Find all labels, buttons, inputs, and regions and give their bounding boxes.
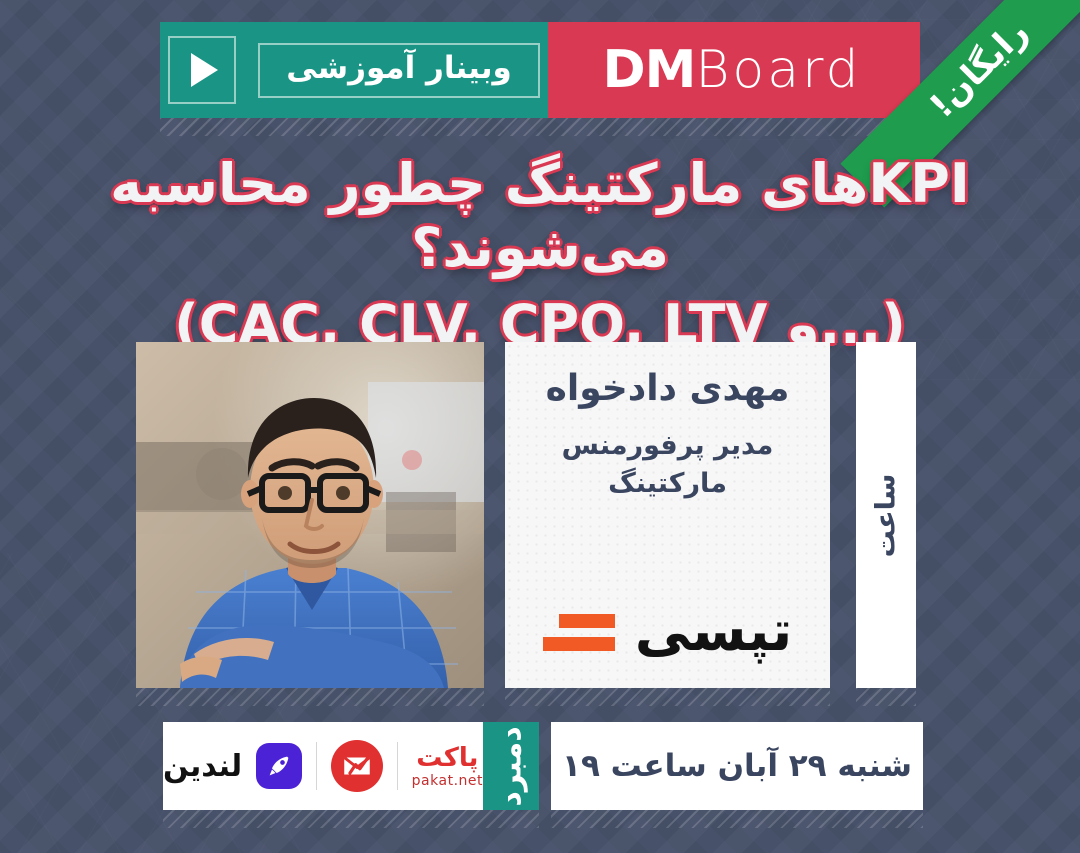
sponsors-bar: پاکت pakat.net لندین xyxy=(163,722,483,810)
play-triangle-icon xyxy=(191,53,218,87)
tapsi-wordmark: تپسی xyxy=(635,604,793,660)
hour-strip-hatch-shadow xyxy=(856,688,916,706)
speaker-card-hatch-shadow xyxy=(505,688,830,706)
hour-strip-label: ساعت xyxy=(871,473,902,557)
free-ribbon-label: رایگان! xyxy=(922,12,1036,126)
dmboard-logo-text: DMBoard xyxy=(602,40,865,100)
title-line-1: KPIهای مارکتینگ چطور محاسبه می‌شوند؟ xyxy=(0,152,1080,279)
logo-board: Board xyxy=(695,40,861,100)
dmboard-logo-box[interactable]: DMBoard xyxy=(548,22,920,118)
event-date-label: شنبه ۲۹ آبان ساعت ۱۹ xyxy=(562,748,912,784)
page-title: KPIهای مارکتینگ چطور محاسبه می‌شوند؟ (CA… xyxy=(0,152,1080,357)
speaker-role: مدیر پرفورمنس مارکتینگ xyxy=(529,427,806,504)
speaker-photo xyxy=(136,342,484,688)
sponsor-divider-2 xyxy=(316,742,317,790)
sponsors-hatch-shadow xyxy=(163,810,539,828)
date-hatch-shadow xyxy=(551,810,923,828)
sponsor-pakat-name-fa: پاکت xyxy=(416,745,478,771)
photo-hatch-shadow xyxy=(136,688,484,706)
header-hatch-shadow xyxy=(160,118,920,136)
sponsor-pakat-name-en: pakat.net xyxy=(412,774,483,788)
event-date-box: شنبه ۲۹ آبان ساعت ۱۹ xyxy=(551,722,923,810)
hour-strip: ساعت xyxy=(856,342,916,688)
webinar-badge-label: وبینار آموزشی xyxy=(258,43,539,98)
tapsi-equals-mark-icon xyxy=(543,614,615,651)
logo-dm: DM xyxy=(602,40,695,100)
play-icon[interactable] xyxy=(168,36,236,104)
rocket-icon xyxy=(256,743,302,789)
speaker-card: مهدی دادخواه مدیر پرفورمنس مارکتینگ تپسی xyxy=(505,342,830,688)
tapsi-bar-top xyxy=(559,614,615,628)
webinar-poster: DMBoard وبینار آموزشی رایگان! KPIهای مار… xyxy=(0,0,1080,853)
sponsor-divider-1 xyxy=(397,742,398,790)
tapsi-bar-bottom xyxy=(543,637,615,651)
dmboard-teal-logo-box[interactable]: دمبرد xyxy=(483,722,539,810)
webinar-badge-box[interactable]: وبینار آموزشی xyxy=(160,22,548,118)
sponsor-pakat[interactable]: پاکت pakat.net xyxy=(412,745,483,788)
poster-header: DMBoard وبینار آموزشی xyxy=(160,22,920,118)
envelope-circle-icon xyxy=(331,740,383,792)
sponsor-landin-name: لندین xyxy=(163,749,242,784)
tapsi-logo: تپسی xyxy=(529,604,806,660)
speaker-name: مهدی دادخواه xyxy=(529,368,806,409)
dmboard-teal-logo-label: دمبرد xyxy=(494,726,529,806)
